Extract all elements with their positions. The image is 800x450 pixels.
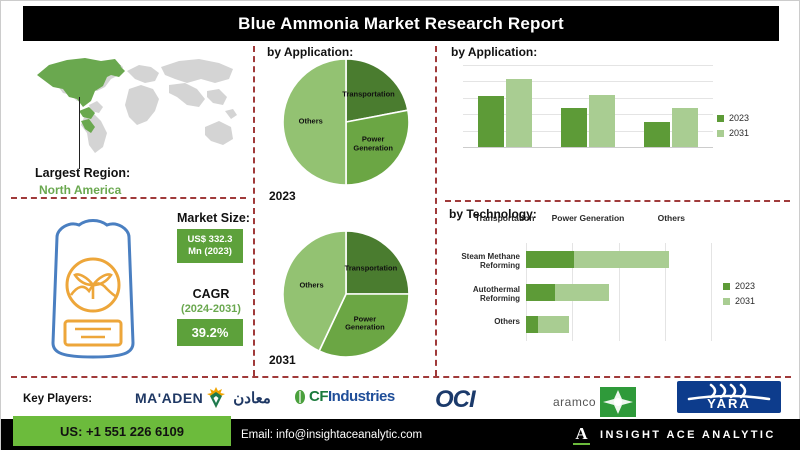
gridline <box>463 65 713 66</box>
divider-horizontal-right <box>445 200 790 202</box>
pie-slice-label: PowerGeneration <box>345 315 385 332</box>
legend-label: 2023 <box>735 281 755 291</box>
north-america-highlight <box>37 58 125 133</box>
cf-leaf-icon <box>293 389 307 405</box>
cagr-value-badge: 39.2% <box>177 319 243 346</box>
cf-industries-part1: CF <box>309 388 328 405</box>
stacked-bar-segment <box>555 284 609 301</box>
fertilizer-bag-icon <box>35 211 151 363</box>
brand-mark-icon: A <box>573 425 590 445</box>
legend-label: 2031 <box>735 296 755 306</box>
legend-item: 2023 <box>717 113 749 123</box>
largest-region-value: North America <box>39 183 121 197</box>
pie-year-2023: 2023 <box>269 189 296 203</box>
legend-item: 2023 <box>723 281 755 291</box>
footer-phone-text: US: +1 551 226 6109 <box>60 424 184 439</box>
column-bar <box>672 108 698 147</box>
pie-chart-2023: TransportationPowerGenerationOthers <box>283 59 409 185</box>
brand-name: INSIGHT ACE ANALYTIC <box>600 429 776 441</box>
gridline <box>463 81 713 82</box>
maaden-logo-text: MA'ADEN <box>135 390 203 406</box>
cagr-period: (2024-2031) <box>171 303 251 315</box>
technology-category-label: AutothermalReforming <box>442 285 520 304</box>
divider-horizontal-left <box>11 197 246 199</box>
cagr-label: CAGR <box>177 287 245 301</box>
stacked-bar-segment <box>526 284 555 301</box>
column-category-label: Others <box>630 213 713 223</box>
pie-year-2031: 2031 <box>269 353 296 367</box>
pie-slice-label: Others <box>299 282 323 291</box>
cf-industries-part2: Industries <box>328 388 395 405</box>
legend-item: 2031 <box>717 128 749 138</box>
column-bar <box>561 108 587 147</box>
aramco-logo: aramco <box>553 387 636 417</box>
maaden-logo: MA'ADEN معادن <box>135 386 271 410</box>
footer-phone-badge[interactable]: US: +1 551 226 6109 <box>13 416 231 446</box>
pie-chart-2031: TransportationPowerGenerationOthers <box>283 231 409 357</box>
gridline <box>711 243 712 341</box>
technology-category-label: Steam MethaneReforming <box>442 252 520 271</box>
pie-slice <box>346 231 409 294</box>
technology-category-label: Others <box>442 317 520 327</box>
page-title: Blue Ammonia Market Research Report <box>238 14 564 34</box>
oci-logo-text: OCI <box>435 386 475 414</box>
technology-chart-legend: 20232031 <box>723 281 755 311</box>
market-size-title: Market Size: <box>177 211 250 225</box>
stacked-bar-segment <box>526 251 574 268</box>
column-chart-legend: 20232031 <box>717 113 749 143</box>
axis-baseline <box>463 147 713 148</box>
yara-logo-text: YARA <box>677 396 781 411</box>
market-size-value-line1: US$ 332.3 <box>188 234 233 246</box>
market-size-panel: Market Size: US$ 332.3 Mn (2023) CAGR (2… <box>9 203 249 371</box>
technology-bar-chart: Steam MethaneReformingAutothermalReformi… <box>526 243 711 341</box>
footer-email[interactable]: Email: info@insightaceanalytic.com <box>241 419 422 450</box>
column-bar <box>478 96 504 147</box>
cf-industries-logo: CF Industries <box>293 388 395 405</box>
market-size-value-badge: US$ 332.3 Mn (2023) <box>177 229 243 263</box>
aramco-logo-text: aramco <box>553 395 596 409</box>
legend-swatch <box>723 283 730 290</box>
application-column-chart: TransportationPower GenerationOthers <box>463 65 713 147</box>
column-chart-title: by Application: <box>451 45 537 59</box>
pie-section-title: by Application: <box>267 45 353 59</box>
aramco-emblem-icon <box>600 387 636 417</box>
divider-vertical-right <box>435 46 437 376</box>
pie-slice-label: Transportation <box>342 91 395 100</box>
pie-slice-label: Others <box>299 118 323 127</box>
pie-slice-label: Transportation <box>345 265 398 274</box>
maaden-logo-arabic: معادن <box>233 389 271 407</box>
column-bar <box>644 122 670 147</box>
divider-vertical-left <box>253 46 255 376</box>
legend-label: 2031 <box>729 128 749 138</box>
map-pointer-line <box>79 97 80 169</box>
column-category-label: Power Generation <box>546 213 629 223</box>
header-bar: Blue Ammonia Market Research Report <box>23 6 779 41</box>
oci-logo: OCI <box>435 386 475 414</box>
column-bar <box>589 95 615 147</box>
legend-swatch <box>717 115 724 122</box>
divider-horizontal-bottom <box>11 376 791 378</box>
largest-region-panel: Largest Region: North America <box>11 49 249 194</box>
technology-chart-title: by Technology: <box>449 207 537 221</box>
brand-logo: A INSIGHT ACE ANALYTIC <box>573 419 776 450</box>
legend-label: 2023 <box>729 113 749 123</box>
market-size-value-line2: Mn (2023) <box>188 246 232 258</box>
legend-swatch <box>723 298 730 305</box>
infographic-root: Blue Ammonia Market Research Report <box>0 0 800 450</box>
stacked-bar-segment <box>574 251 670 268</box>
largest-region-label: Largest Region: <box>35 166 130 180</box>
pie-slice-label: PowerGeneration <box>353 136 393 153</box>
world-map-icon <box>19 49 247 161</box>
stacked-bar-segment <box>538 316 569 333</box>
maaden-emblem-icon <box>206 386 226 410</box>
legend-swatch <box>717 130 724 137</box>
key-players-label: Key Players: <box>23 393 92 405</box>
legend-item: 2031 <box>723 296 755 306</box>
column-bar <box>506 79 532 147</box>
yara-logo: YARA <box>677 381 781 413</box>
stacked-bar-segment <box>526 316 538 333</box>
